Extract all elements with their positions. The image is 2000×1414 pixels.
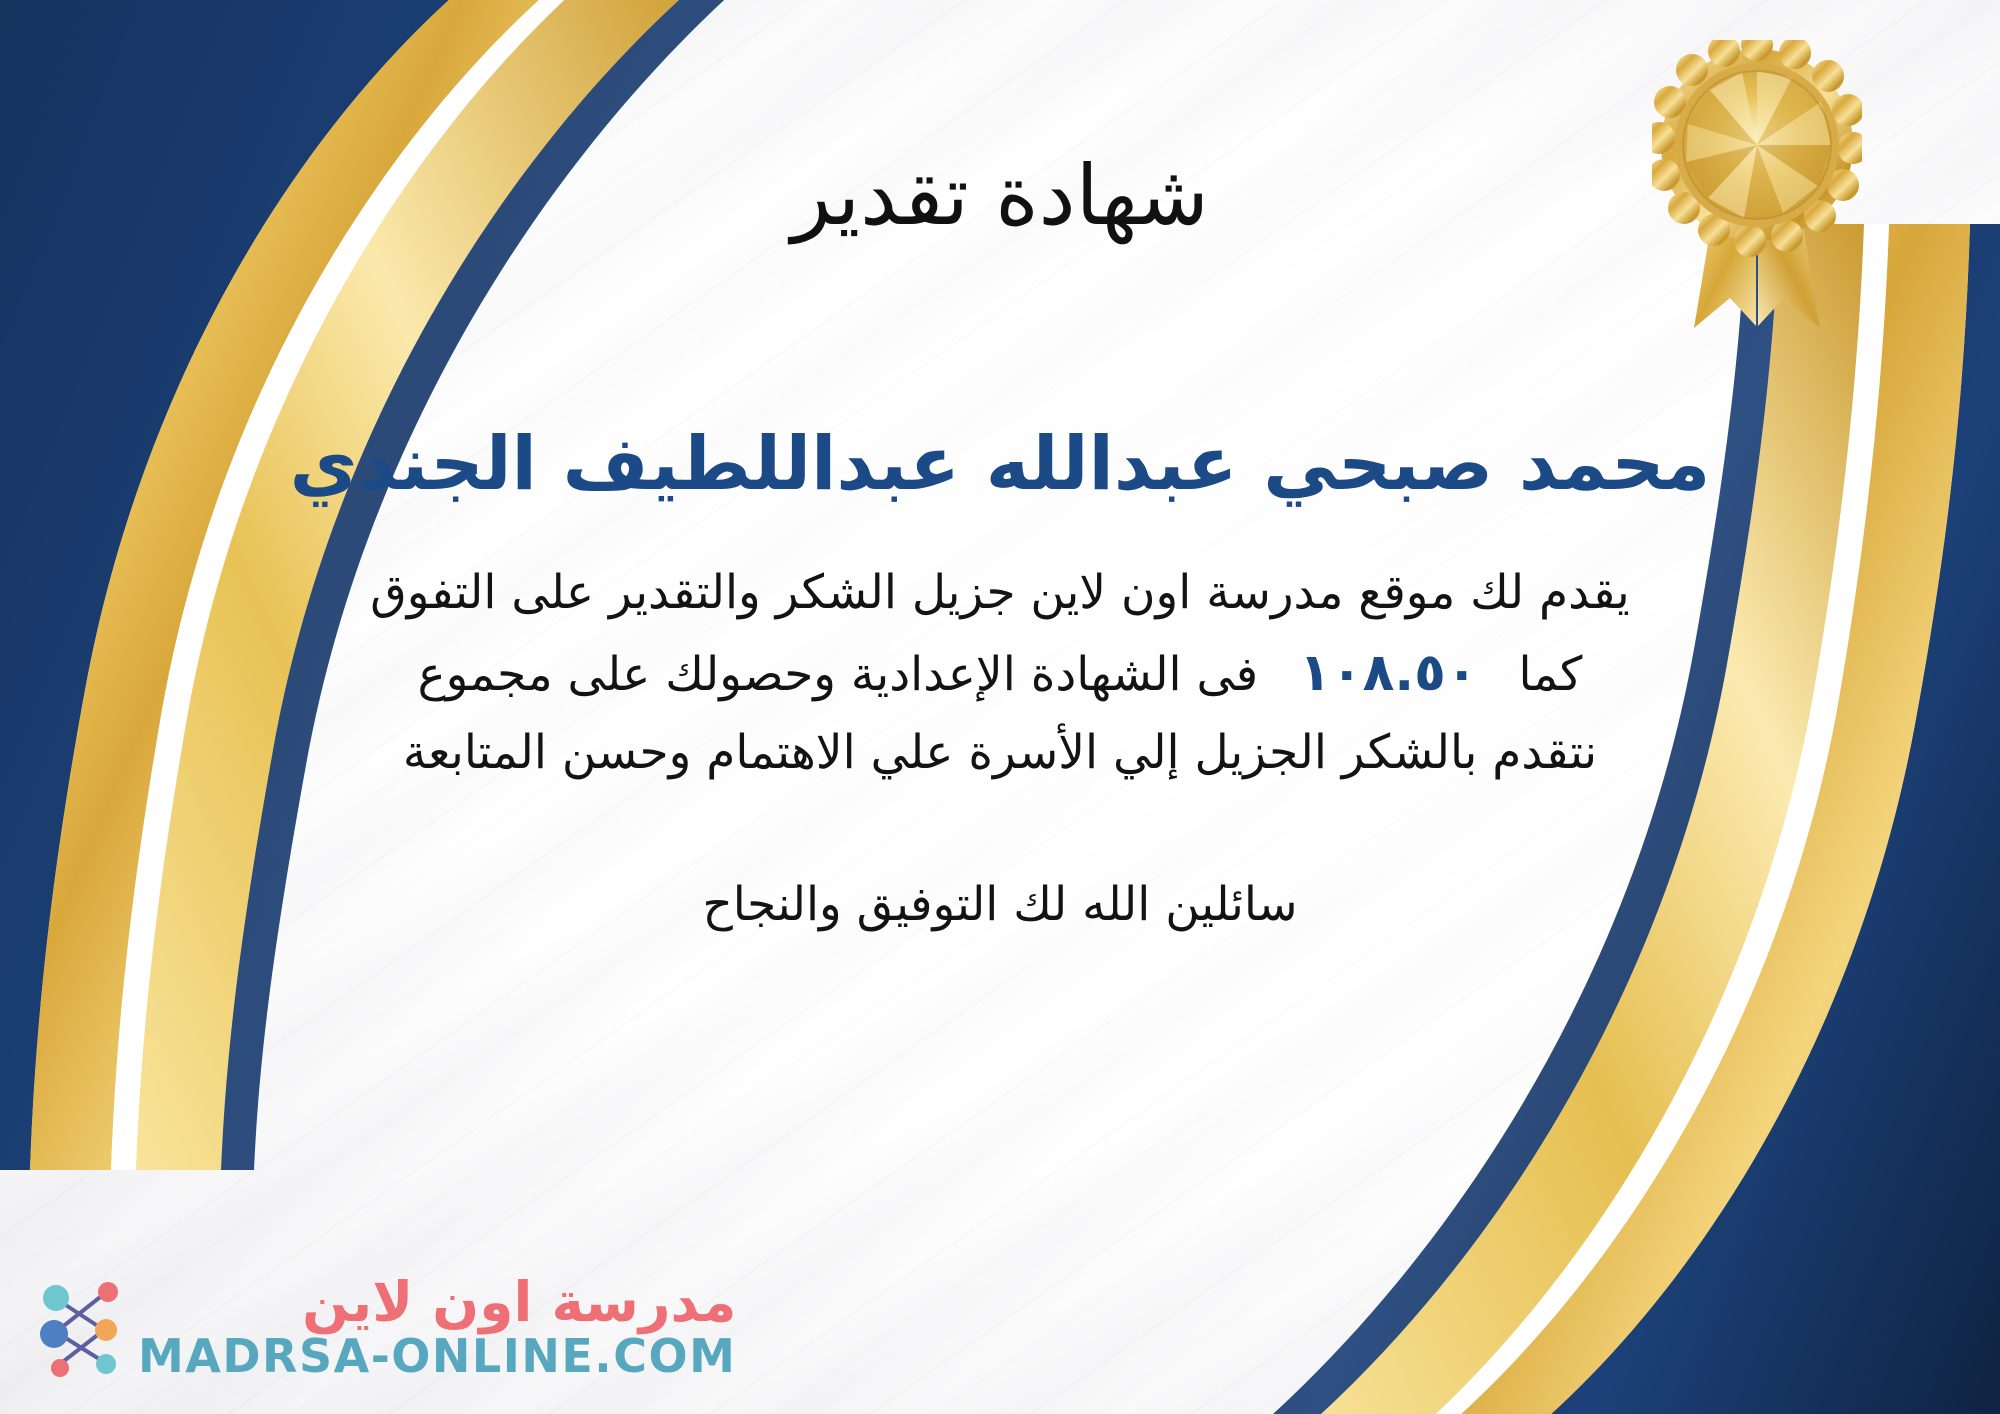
body-line-2-suffix: فى الشهادة الإعدادية وحصولك على مجموع: [418, 647, 1259, 702]
brand-name-english: MADRSA-ONLINE.COM: [138, 1332, 736, 1380]
body-line-2-prefix: كما: [1519, 647, 1583, 702]
network-nodes-icon: [34, 1272, 130, 1382]
certificate-page: شهادة تقدير محمد صبحي عبدالله عبداللطيف …: [0, 0, 2000, 1414]
brand-logo[interactable]: مدرسة اون لاين MADRSA-ONLINE.COM: [34, 1272, 736, 1382]
certificate-content: شهادة تقدير محمد صبحي عبدالله عبداللطيف …: [0, 0, 2000, 1414]
page-title: شهادة تقدير: [791, 152, 1208, 239]
grade-total: ١٠٨.٥٠: [1273, 631, 1503, 715]
recipient-name: محمد صبحي عبدالله عبداللطيف الجندي: [290, 425, 1711, 505]
body-line-2: كما ١٠٨.٥٠ فى الشهادة الإعدادية وحصولك ع…: [220, 631, 1780, 715]
brand-name-arabic: مدرسة اون لاين: [302, 1274, 736, 1332]
appreciation-body: يقدم لك موقع مدرسة اون لاين جزيل الشكر و…: [220, 555, 1780, 791]
brand-text: مدرسة اون لاين MADRSA-ONLINE.COM: [138, 1274, 736, 1380]
body-line-1: يقدم لك موقع مدرسة اون لاين جزيل الشكر و…: [220, 555, 1780, 631]
body-line-3: نتقدم بالشكر الجزيل إلي الأسرة علي الاهت…: [220, 715, 1780, 791]
closing-line: سائلين الله لك التوفيق والنجاح: [702, 870, 1297, 941]
